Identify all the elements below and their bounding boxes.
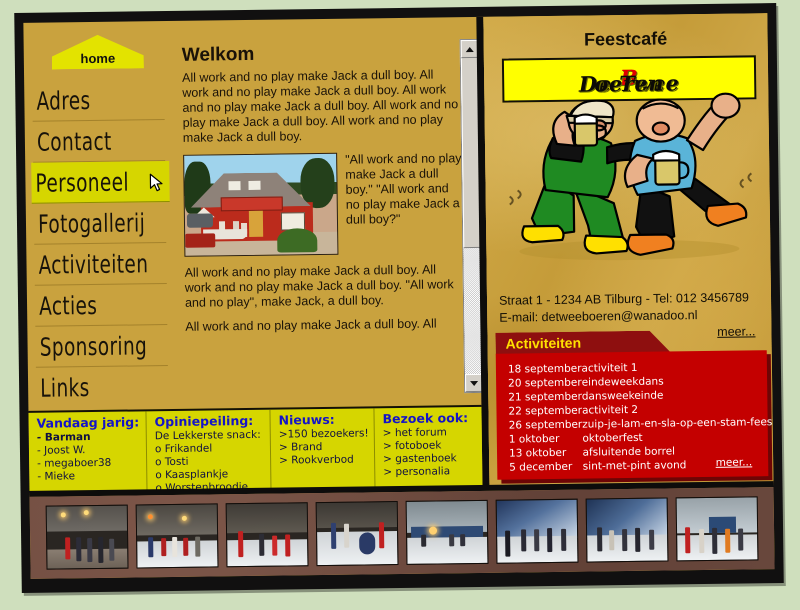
person-shape	[725, 528, 730, 552]
sidebar-item-activiteiten[interactable]: Activiteiten	[34, 243, 167, 286]
list-item[interactable]: > Brand	[279, 440, 374, 454]
gallery-thumb-3[interactable]	[226, 502, 309, 567]
page-frame: home Adres Contact Personeel Fotogalleri…	[14, 3, 784, 593]
sidebar-item-contact[interactable]: Contact	[33, 120, 166, 163]
info-column-title: Nieuws:	[278, 411, 373, 427]
person-shape	[712, 528, 717, 554]
sidebar-item-label: Acties	[35, 290, 98, 320]
sidebar-item-sponsoring[interactable]: Sponsoring	[35, 325, 168, 368]
lamp-icon	[182, 516, 187, 521]
page-title: Welkom	[182, 41, 482, 67]
person-shape	[195, 537, 200, 557]
info-bar: Vandaag jarig: - Barman - Joost W. - meg…	[28, 405, 482, 493]
two-farmers-cartoon	[494, 83, 762, 266]
sidebar-item-adres[interactable]: Adres	[32, 79, 165, 122]
red-house-photo	[183, 153, 338, 257]
info-column-birthdays: Vandaag jarig: - Barman - Joost W. - meg…	[28, 411, 147, 493]
door-shape	[249, 211, 263, 237]
car-shape	[187, 213, 213, 227]
person-shape	[449, 534, 454, 546]
info-column-poll: Opiniepeiling: De Lekkerste snack: o Fri…	[146, 410, 271, 492]
person-shape	[359, 532, 375, 554]
person-shape	[172, 537, 177, 557]
triangle-up-icon	[466, 47, 474, 52]
person-shape	[421, 534, 426, 546]
window-shape	[248, 181, 260, 190]
person-shape	[505, 530, 510, 556]
activities-panel: 18 septemberactiviteit 1 20 septemberein…	[496, 350, 769, 480]
cafe-subtitle: Feestcafé	[484, 27, 768, 52]
pull-quote: "All work and no play make Jack a dull b…	[345, 151, 464, 255]
gallery-thumb-6[interactable]	[496, 499, 579, 564]
sidebar-item-personeel[interactable]: Personeel	[31, 161, 170, 204]
sidebar-item-label: Links	[36, 373, 90, 403]
person-shape	[534, 529, 539, 551]
person-shape	[738, 529, 743, 551]
person-shape	[238, 531, 243, 557]
person-shape	[597, 527, 602, 551]
lamp-icon	[84, 510, 89, 515]
sidebar-item-label: Fotogallerij	[34, 208, 146, 238]
poll-question: De Lekkerste snack:	[155, 429, 270, 444]
sidebar-nav: home Adres Contact Personeel Fotogalleri…	[23, 21, 176, 393]
more-link-contact[interactable]: meer...	[717, 323, 755, 340]
person-shape	[76, 537, 81, 561]
person-shape	[161, 538, 166, 556]
person-shape	[685, 527, 690, 553]
hall-roof	[226, 503, 309, 533]
snow-floor	[407, 537, 487, 564]
sidebar-item-label: Personeel	[31, 167, 129, 197]
person-shape	[649, 530, 654, 550]
person-shape	[561, 529, 566, 551]
activity-date: 13 oktober	[509, 447, 583, 462]
gallery-thumb-4[interactable]	[316, 501, 399, 566]
body-paragraph-3: All work and no play make Jack a dull bo…	[185, 316, 463, 335]
sidebar-item-label: Adres	[32, 86, 91, 116]
info-list: >150 bezoekers! > Brand > Rookverbod	[279, 427, 375, 467]
sidebar-item-links[interactable]: Links	[36, 366, 169, 408]
mouse-pointer-icon	[149, 173, 165, 193]
gallery-thumb-2[interactable]	[136, 503, 219, 568]
intro-paragraph: All work and no play make Jack a dull bo…	[182, 67, 461, 146]
info-list: - Barman - Joost W. - megaboer38 - Mieke	[37, 430, 147, 483]
person-shape	[259, 534, 264, 556]
gallery-thumb-8[interactable]	[676, 496, 759, 561]
person-shape	[98, 537, 103, 563]
person-shape	[635, 528, 640, 552]
contact-info: Straat 1 - 1234 AB Tilburg - Tel: 012 34…	[499, 289, 763, 326]
person-shape	[184, 538, 189, 556]
sidebar-item-label: Contact	[33, 126, 112, 156]
list-item[interactable]: - Mieke	[37, 469, 146, 483]
activity-date: 20 september	[508, 377, 582, 392]
car-shape	[185, 233, 215, 247]
balcony-shape	[221, 197, 283, 212]
window-shape	[228, 181, 240, 190]
person-shape	[65, 538, 70, 560]
right-panel: Feestcafé De Twee Boeren	[483, 13, 773, 487]
main-content: Welkom All work and no play make Jack a …	[172, 31, 487, 403]
info-column-news: Nieuws: >150 bezoekers! > Brand > Rookve…	[270, 408, 375, 489]
list-item[interactable]: > fotoboek	[383, 439, 482, 453]
email-line: E-mail: detweeboeren@wanadoo.nl	[499, 308, 697, 325]
more-link-activities[interactable]: meer...	[716, 456, 753, 468]
activity-date: 22 september	[508, 405, 582, 420]
person-shape	[521, 529, 526, 551]
activity-date: 21 september	[508, 391, 582, 406]
gallery-thumb-1[interactable]	[46, 505, 129, 570]
person-shape	[344, 523, 349, 547]
person-shape	[622, 529, 627, 551]
lamp-icon	[148, 514, 153, 519]
activities-title: Activiteiten	[506, 335, 582, 352]
list-item[interactable]: > gastenboek	[383, 452, 482, 466]
photo-gallery-strip	[30, 487, 775, 579]
person-shape	[460, 534, 465, 546]
sidebar-item-label: Activiteiten	[34, 249, 148, 279]
hall-roof	[136, 504, 219, 535]
body-paragraph-2: All work and no play make Jack a dull bo…	[185, 262, 464, 311]
list-item[interactable]: > Rookverbod	[279, 453, 374, 467]
list-item[interactable]: > het forum	[383, 426, 482, 440]
info-list: > het forum > fotoboek > gastenboek > pe…	[383, 426, 483, 479]
person-shape	[547, 528, 552, 552]
gallery-thumb-5[interactable]	[406, 500, 489, 565]
info-column-title: Opiniepeiling:	[155, 413, 270, 430]
sidebar-item-fotogallerij[interactable]: Fotogallerij	[34, 202, 167, 245]
person-shape	[699, 529, 704, 553]
activity-date: 18 september	[508, 363, 582, 378]
activity-date: 5 december	[509, 461, 583, 476]
person-shape	[110, 538, 115, 560]
tree-shape	[300, 158, 335, 208]
snow-floor	[317, 531, 397, 566]
person-shape	[609, 530, 614, 550]
triangle-down-icon	[470, 381, 478, 386]
person-shape	[285, 535, 290, 557]
person-shape	[331, 523, 336, 549]
list-item[interactable]: >150 bezoekers!	[279, 427, 374, 441]
list-item[interactable]: > personalia	[383, 465, 482, 479]
person-shape	[148, 537, 153, 557]
info-column-title: Vandaag jarig:	[37, 414, 146, 430]
activity-date: 26 september	[509, 419, 583, 434]
page-inner: home Adres Contact Personeel Fotogalleri…	[23, 13, 774, 579]
hall-roof	[316, 502, 399, 528]
activity-date: 1 oktober	[509, 433, 583, 448]
info-column-links: Bezoek ook: > het forum > fotoboek > gas…	[374, 407, 482, 488]
photo-and-quote-row: "All work and no play make Jack a dull b…	[183, 151, 484, 257]
sidebar-item-acties[interactable]: Acties	[35, 284, 168, 327]
person-shape	[379, 522, 384, 548]
sidebar-item-label: Sponsoring	[35, 331, 147, 361]
info-column-title: Bezoek ook:	[382, 410, 481, 426]
gallery-thumb-7[interactable]	[586, 498, 669, 563]
person-shape	[87, 538, 92, 562]
home-button-label: home	[52, 50, 144, 66]
person-shape	[272, 536, 277, 556]
bush-shape	[277, 228, 317, 253]
